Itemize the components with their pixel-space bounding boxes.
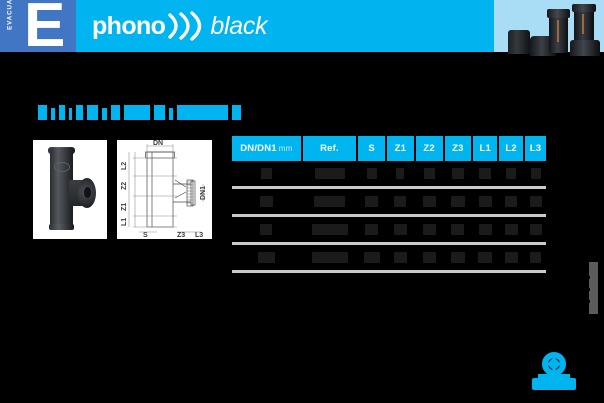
table-cell-ref bbox=[303, 247, 356, 268]
product-photo-bottom-end bbox=[49, 224, 74, 230]
spec-table-header-z3: Z3 bbox=[445, 136, 472, 161]
spec-table-header-label: L2 bbox=[505, 143, 517, 154]
drawing-label-dn: DN bbox=[153, 140, 163, 147]
spec-table-header-label: Z3 bbox=[452, 143, 464, 154]
redacted-value bbox=[260, 224, 272, 235]
table-cell-z2 bbox=[416, 247, 443, 268]
redacted-value bbox=[478, 252, 492, 263]
redacted-value bbox=[506, 168, 516, 179]
table-cell-dn bbox=[232, 219, 301, 240]
spec-table-header-ref: Ref. bbox=[303, 136, 356, 161]
table-cell-z1 bbox=[387, 163, 414, 184]
table-cell-z3 bbox=[445, 219, 472, 240]
pipe-socket-icon-base bbox=[532, 378, 576, 390]
spec-table-header-row: DN/DN1mmRef.SZ1Z2Z3L1L2L3 bbox=[232, 136, 546, 161]
section-title-block bbox=[232, 105, 241, 120]
redacted-value bbox=[452, 168, 464, 179]
drawing-label-dn1: DN1 bbox=[200, 186, 207, 200]
drawing-label-z2: Z2 bbox=[121, 182, 128, 190]
drawing-label-l3: L3 bbox=[195, 232, 203, 239]
spec-table-header-l1: L1 bbox=[473, 136, 497, 161]
redacted-value bbox=[367, 168, 377, 179]
table-cell-dn bbox=[232, 163, 301, 184]
redacted-value bbox=[479, 196, 492, 207]
redacted-value bbox=[423, 252, 436, 263]
table-cell-ref bbox=[303, 191, 356, 212]
table-cell-z3 bbox=[445, 191, 472, 212]
table-cell-l1 bbox=[473, 247, 497, 268]
section-title-block bbox=[102, 108, 107, 120]
redacted-value bbox=[423, 224, 436, 235]
table-cell-s bbox=[358, 191, 385, 212]
table-cell-s bbox=[358, 219, 385, 240]
redacted-value bbox=[364, 252, 380, 263]
brand-logo: phono black bbox=[92, 11, 267, 41]
section-title-block bbox=[87, 105, 98, 120]
section-title-block bbox=[69, 108, 72, 120]
pipe-right-socket-seal bbox=[582, 14, 584, 34]
table-cell-l1 bbox=[473, 163, 497, 184]
redacted-value bbox=[365, 196, 378, 207]
product-photo-cap-hub bbox=[84, 187, 91, 198]
table-cell-l1 bbox=[473, 191, 497, 212]
table-cell-ref bbox=[303, 163, 356, 184]
redacted-value bbox=[451, 196, 465, 207]
spec-table-header-s: S bbox=[358, 136, 385, 161]
table-cell-l3 bbox=[525, 247, 546, 268]
pipe-fitting-left-photo bbox=[508, 30, 530, 54]
redacted-value bbox=[505, 196, 517, 207]
page-header: EVACUACIÓ E phono black bbox=[0, 0, 604, 52]
table-row-rule bbox=[232, 186, 546, 189]
category-letter: E bbox=[24, 1, 64, 51]
redacted-value bbox=[394, 196, 406, 207]
sound-waves-icon bbox=[166, 11, 208, 41]
drawing-label-l2: L2 bbox=[121, 162, 128, 170]
spec-table-header-z2: Z2 bbox=[416, 136, 443, 161]
section-title-block bbox=[154, 105, 165, 120]
spec-table-header-l3: L3 bbox=[525, 136, 546, 161]
spec-table-header-dn: DN/DN1mm bbox=[232, 136, 301, 161]
table-cell-l3 bbox=[525, 219, 546, 240]
spec-table-header-unit: mm bbox=[279, 144, 293, 153]
table-cell-z1 bbox=[387, 219, 414, 240]
redacted-value bbox=[530, 224, 542, 235]
spec-table-header-label: DN/DN1 bbox=[240, 143, 277, 154]
table-cell-dn bbox=[232, 247, 301, 268]
table-cell-z2 bbox=[416, 219, 443, 240]
pipe-right-socket-cap bbox=[572, 4, 596, 12]
table-row bbox=[232, 191, 546, 212]
table-cell-l2 bbox=[499, 219, 523, 240]
table-cell-z2 bbox=[416, 163, 443, 184]
table-row bbox=[232, 163, 546, 184]
table-cell-s bbox=[358, 247, 385, 268]
redacted-value bbox=[394, 252, 407, 263]
redacted-value bbox=[365, 224, 378, 235]
redacted-value bbox=[505, 252, 518, 263]
redacted-value bbox=[312, 252, 348, 263]
section-title-block bbox=[76, 105, 83, 120]
table-cell-s bbox=[358, 163, 385, 184]
table-cell-z1 bbox=[387, 191, 414, 212]
drawing-label-z1: Z1 bbox=[121, 203, 128, 211]
pipe-socket-icon bbox=[528, 352, 580, 394]
redacted-value bbox=[479, 224, 492, 235]
redacted-value bbox=[451, 252, 465, 263]
redacted-value bbox=[505, 224, 518, 235]
table-cell-z3 bbox=[445, 247, 472, 268]
edge-tab-notch bbox=[587, 288, 590, 291]
redacted-value bbox=[531, 168, 541, 179]
table-cell-l2 bbox=[499, 163, 523, 184]
redacted-value bbox=[261, 168, 272, 179]
section-title-block bbox=[177, 105, 228, 120]
section-title-block bbox=[124, 105, 150, 120]
page-edge-tab bbox=[589, 262, 598, 314]
spec-table-body bbox=[232, 163, 546, 268]
spec-table-bottom-rule bbox=[232, 270, 546, 273]
pipe-tall-socket-seal bbox=[557, 20, 559, 42]
spec-table: DN/DN1mmRef.SZ1Z2Z3L1L2L3 bbox=[232, 136, 546, 273]
redacted-value bbox=[258, 252, 275, 263]
table-cell-z2 bbox=[416, 191, 443, 212]
table-cell-l2 bbox=[499, 247, 523, 268]
redacted-value bbox=[312, 224, 348, 235]
table-cell-l3 bbox=[525, 163, 546, 184]
redacted-value bbox=[394, 224, 407, 235]
table-cell-l2 bbox=[499, 191, 523, 212]
table-cell-dn bbox=[232, 191, 301, 212]
edge-tab-notch bbox=[587, 276, 590, 279]
technical-drawing: DN L2 Z2 Z1 L1 S Z3 L3 DN1 bbox=[117, 140, 212, 239]
section-title-block bbox=[59, 105, 65, 120]
pipe-tall-socket-cap bbox=[547, 9, 570, 18]
section-title bbox=[38, 104, 241, 120]
spec-table-header-label: L3 bbox=[530, 143, 542, 154]
spec-table-header-label: S bbox=[368, 143, 375, 154]
brand-primary-text: phono bbox=[92, 12, 165, 41]
product-photo bbox=[33, 140, 107, 239]
redacted-value bbox=[315, 168, 345, 179]
spec-table-header-label: Z2 bbox=[423, 143, 435, 154]
category-plate: EVACUACIÓ E bbox=[0, 0, 76, 52]
spec-table-header-label: Ref. bbox=[320, 143, 339, 154]
spec-table-header-label: Z1 bbox=[395, 143, 407, 154]
spec-table-header-l2: L2 bbox=[499, 136, 523, 161]
redacted-value bbox=[451, 224, 464, 235]
section-title-block bbox=[169, 108, 173, 120]
drawing-label-s: S bbox=[143, 232, 148, 239]
pipe-right-socket-base bbox=[570, 40, 600, 56]
table-row bbox=[232, 219, 546, 240]
table-row bbox=[232, 247, 546, 268]
drawing-label-l1: L1 bbox=[121, 218, 128, 226]
table-row-rule bbox=[232, 242, 546, 245]
section-title-block bbox=[38, 105, 47, 120]
category-vertical-label: EVACUACIÓ bbox=[7, 0, 14, 31]
drawing-label-z3: Z3 bbox=[177, 232, 185, 239]
brand-secondary-text: black bbox=[210, 12, 267, 41]
table-cell-l1 bbox=[473, 219, 497, 240]
redacted-value bbox=[314, 196, 345, 207]
table-row-rule bbox=[232, 214, 546, 217]
redacted-value bbox=[424, 168, 435, 179]
table-cell-l3 bbox=[525, 191, 546, 212]
spec-table-header-z1: Z1 bbox=[387, 136, 414, 161]
redacted-value bbox=[479, 168, 491, 179]
redacted-value bbox=[396, 168, 404, 179]
table-cell-ref bbox=[303, 219, 356, 240]
product-photo-embossed-logo bbox=[54, 162, 70, 172]
edge-tab-notch bbox=[587, 300, 590, 303]
section-title-block bbox=[51, 108, 55, 120]
redacted-value bbox=[530, 252, 541, 263]
redacted-value bbox=[530, 196, 542, 207]
redacted-value bbox=[423, 196, 436, 207]
table-cell-z3 bbox=[445, 163, 472, 184]
section-title-block bbox=[111, 105, 120, 120]
redacted-value bbox=[260, 196, 273, 207]
spec-table-header-label: L1 bbox=[479, 143, 491, 154]
table-cell-z1 bbox=[387, 247, 414, 268]
